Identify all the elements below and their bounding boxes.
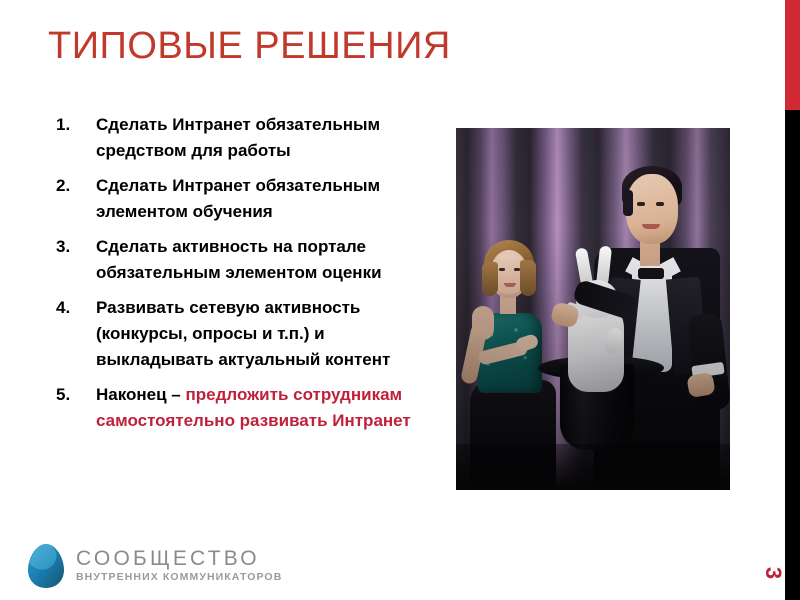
list-item-number: 3. (56, 234, 86, 260)
page-number: 3 (758, 562, 788, 584)
list-item-number: 2. (56, 173, 86, 199)
list-item: 5. Наконец – предложить сотрудникам само… (56, 382, 426, 434)
list-item-text: Наконец – (96, 385, 185, 404)
community-egg-logo-icon (26, 542, 66, 590)
photo-vignette (456, 128, 730, 490)
logo-title: СООБЩЕСТВО (76, 548, 282, 570)
slide: 3 ТИПОВЫЕ РЕШЕНИЯ 1. Сделать Интранет об… (0, 0, 800, 600)
list-item-number: 1. (56, 112, 86, 138)
edge-bar-red (785, 0, 800, 110)
magician-photo (456, 128, 730, 490)
logo-text: СООБЩЕСТВО ВНУТРЕННИХ КОММУНИКАТОРОВ (76, 548, 282, 584)
photo-floor-shadow (456, 444, 730, 490)
list-item: 4. Развивать сетевую активность (конкурс… (56, 295, 426, 373)
list-item: 3. Сделать активность на портале обязате… (56, 234, 426, 286)
logo: СООБЩЕСТВО ВНУТРЕННИХ КОММУНИКАТОРОВ (26, 542, 282, 590)
page-title: ТИПОВЫЕ РЕШЕНИЯ (48, 25, 451, 68)
content-list: 1. Сделать Интранет обязательным средств… (56, 112, 426, 443)
list-item-number: 4. (56, 295, 86, 321)
list-item-number: 5. (56, 382, 86, 408)
list-item: 2. Сделать Интранет обязательным элемент… (56, 173, 426, 225)
list-item-text: Сделать активность на портале обязательн… (96, 237, 382, 282)
edge-bar-black (785, 110, 800, 600)
logo-subtitle: ВНУТРЕННИХ КОММУНИКАТОРОВ (76, 570, 282, 584)
list-item-text: Сделать Интранет обязательным средством … (96, 115, 380, 160)
list-item: 1. Сделать Интранет обязательным средств… (56, 112, 426, 164)
list-item-text: Сделать Интранет обязательным элементом … (96, 176, 380, 221)
list-item-text: Развивать сетевую активность (конкурсы, … (96, 298, 390, 369)
